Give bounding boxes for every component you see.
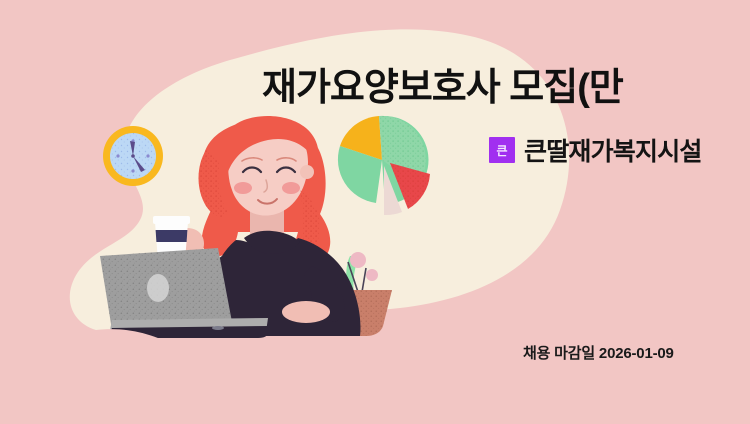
job-posting-banner: 재가요양보호사 모집(만 큰 큰딸재가복지시설 채용 마감일 2026-01-0… bbox=[0, 0, 750, 424]
company-logo-badge: 큰 bbox=[489, 137, 515, 163]
company-row[interactable]: 큰 큰딸재가복지시설 bbox=[489, 132, 702, 168]
page-title: 재가요양보호사 모집(만 bbox=[262, 66, 623, 112]
application-deadline: 채용 마감일 2026-01-09 bbox=[523, 342, 674, 363]
text-overlay: 재가요양보호사 모집(만 큰 큰딸재가복지시설 채용 마감일 2026-01-0… bbox=[0, 0, 750, 424]
company-name[interactable]: 큰딸재가복지시설 bbox=[524, 132, 702, 168]
